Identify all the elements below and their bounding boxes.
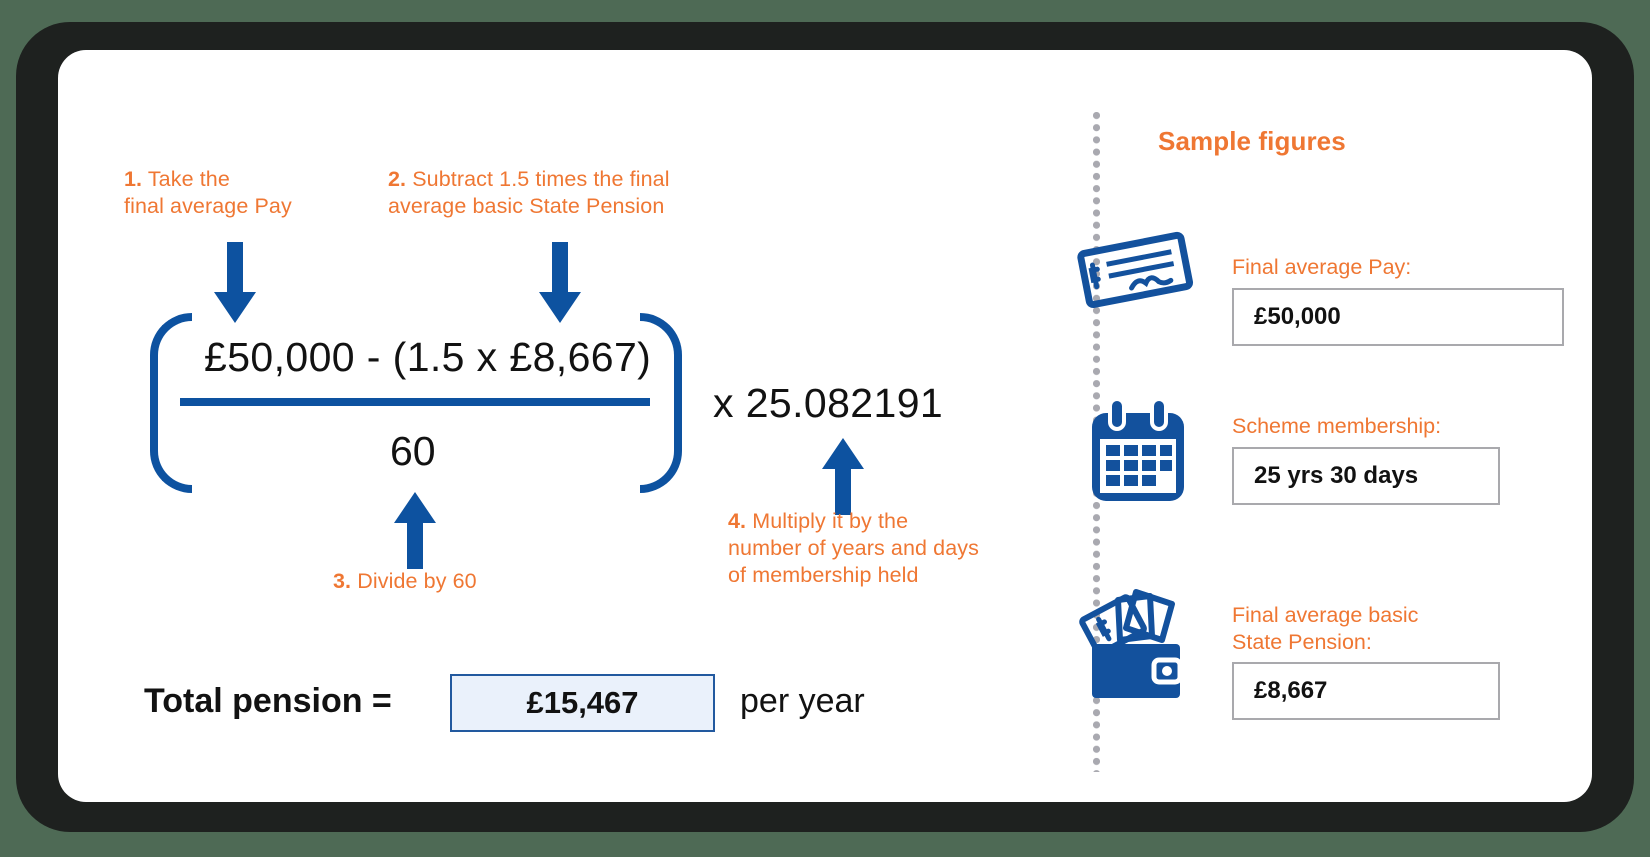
arrow-down-step-2-icon <box>535 242 585 324</box>
step-4-text-line3: of membership held <box>728 562 979 589</box>
sample-value-box-scheme-membership: 25 yrs 30 days <box>1232 447 1500 505</box>
step-4-text-line1: Multiply it by the <box>752 509 908 533</box>
sample-value-scheme-membership: 25 yrs 30 days <box>1234 462 1418 490</box>
sample-label-final-average-pay: Final average Pay: <box>1232 254 1411 281</box>
sample-label-line1: Final average basic <box>1232 602 1418 629</box>
sample-value-box-final-average-basic-state-pension: £8,667 <box>1232 662 1500 720</box>
step-1-number: 1. <box>124 167 142 191</box>
step-4-text-line2: number of years and days <box>728 535 979 562</box>
device-frame: 1. Take the final average Pay 2. Subtrac… <box>16 22 1634 832</box>
total-pension-value-box: £15,467 <box>450 674 715 732</box>
sample-row-final-average-basic-state-pension: Final average basic State Pension: £8,66… <box>1070 578 1570 718</box>
sample-value-final-average-pay: £50,000 <box>1234 303 1341 331</box>
sample-label-scheme-membership: Scheme membership: <box>1232 413 1441 440</box>
step-2-text-line1: Subtract 1.5 times the final <box>412 167 669 191</box>
formula-numerator: £50,000 - (1.5 x £8,667) <box>204 334 651 381</box>
step-1-text-line1: Take the <box>148 167 230 191</box>
formula-multiplier: x 25.082191 <box>713 380 943 427</box>
sample-value-box-final-average-pay: £50,000 <box>1232 288 1564 346</box>
arrow-down-step-1-icon <box>210 242 260 324</box>
total-pension-value: £15,467 <box>526 685 638 721</box>
step-1-label: 1. Take the final average Pay <box>124 166 292 220</box>
per-year-label: per year <box>740 682 865 721</box>
content-card: 1. Take the final average Pay 2. Subtrac… <box>58 50 1592 802</box>
step-2-text-line2: average basic State Pension <box>388 193 670 220</box>
step-1-text-line2: final average Pay <box>124 193 292 220</box>
sample-figures-title: Sample figures <box>1158 126 1346 157</box>
sample-row-final-average-pay: Final average Pay: £50,000 <box>1070 222 1570 342</box>
formula-denominator: 60 <box>390 428 436 475</box>
step-3-label: 3. Divide by 60 <box>333 568 477 595</box>
total-pension-label: Total pension = <box>144 682 392 721</box>
arrow-up-step-3-icon <box>390 492 440 570</box>
fraction-bar <box>180 398 650 406</box>
sample-label-final-average-basic-state-pension: Final average basic State Pension: <box>1232 602 1418 656</box>
step-4-number: 4. <box>728 509 746 533</box>
step-3-number: 3. <box>333 569 351 593</box>
step-2-number: 2. <box>388 167 406 191</box>
arrow-up-step-4-icon <box>818 438 868 516</box>
sample-label-line2: State Pension: <box>1232 629 1418 656</box>
step-2-label: 2. Subtract 1.5 times the final average … <box>388 166 670 220</box>
calendar-icon <box>1070 395 1200 505</box>
cheque-icon <box>1070 222 1200 317</box>
step-4-label: 4. Multiply it by the number of years an… <box>728 508 979 589</box>
sample-row-scheme-membership: Scheme membership: 25 yrs 30 days <box>1070 395 1570 515</box>
step-3-text-line1: Divide by 60 <box>357 569 477 593</box>
sample-value-final-average-basic-state-pension: £8,667 <box>1234 677 1327 705</box>
wallet-icon <box>1070 578 1200 708</box>
